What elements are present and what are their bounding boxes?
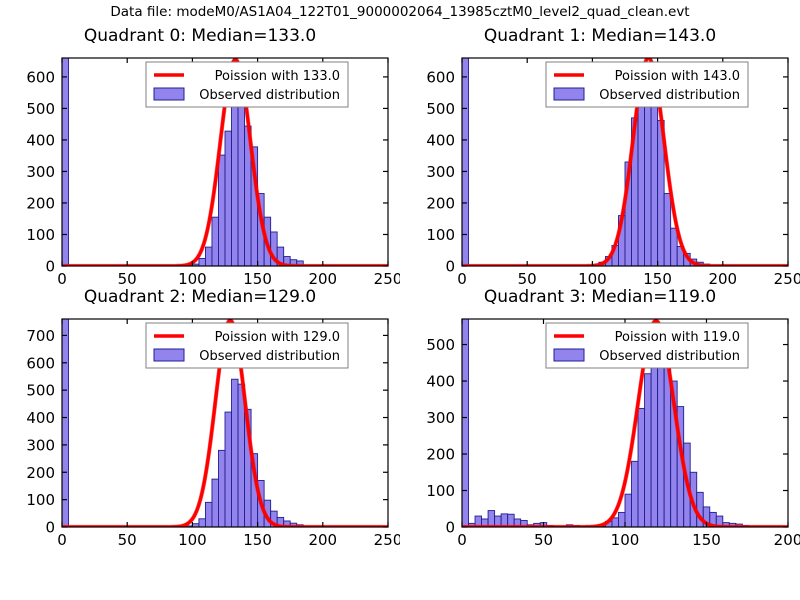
chart-quadrant-2: 0501001502002500100200300400500600700Poi… (0, 287, 400, 557)
legend[interactable]: Poission with 129.0Observed distribution (146, 323, 348, 368)
x-tick-label: 100 (578, 270, 607, 288)
legend-patch-swatch (554, 88, 584, 100)
x-tick-label: 150 (643, 270, 672, 288)
legend-label-observed: Observed distribution (599, 349, 740, 364)
panel-quadrant-3: Quadrant 3: Median=119.00501001502000100… (400, 287, 800, 557)
x-tick-label: 0 (457, 531, 467, 549)
legend[interactable]: Poission with 119.0Observed distribution (546, 323, 748, 368)
y-tick-label: 200 (426, 194, 455, 212)
y-tick-label: 500 (426, 336, 455, 354)
y-tick-label: 300 (426, 409, 455, 427)
legend-label-poisson: Poission with 143.0 (615, 69, 740, 84)
y-tick-label: 200 (426, 446, 455, 464)
x-tick-label: 0 (457, 270, 467, 288)
figure-title: Data file: modeM0/AS1A04_122T01_90000020… (0, 4, 800, 20)
legend[interactable]: Poission with 143.0Observed distribution (546, 62, 748, 107)
figure-canvas: Data file: modeM0/AS1A04_122T01_90000020… (0, 0, 800, 600)
y-tick-label: 100 (26, 491, 55, 509)
panel-quadrant-2: Quadrant 2: Median=129.00501001502002500… (0, 287, 400, 557)
y-tick-label: 500 (26, 100, 55, 118)
y-tick-label: 500 (26, 382, 55, 400)
legend-patch-swatch (554, 349, 584, 361)
y-tick-label: 600 (26, 354, 55, 372)
panel-quadrant-0: Quadrant 0: Median=133.00501001502002500… (0, 26, 400, 296)
chart-quadrant-0: 0501001502002500100200300400500600Poissi… (0, 26, 400, 296)
x-tick-label: 150 (243, 531, 272, 549)
x-tick-label: 150 (243, 270, 272, 288)
y-tick-label: 300 (26, 163, 55, 181)
y-tick-label: 200 (26, 464, 55, 482)
y-tick-label: 400 (426, 373, 455, 391)
y-tick-label: 0 (445, 519, 455, 537)
y-tick-label: 400 (426, 131, 455, 149)
x-tick-label: 150 (692, 531, 721, 549)
legend-label-observed: Observed distribution (599, 88, 740, 103)
y-tick-label: 600 (26, 68, 55, 86)
chart-quadrant-1: 0501001502002500100200300400500600Poissi… (400, 26, 800, 296)
y-tick-label: 700 (26, 327, 55, 345)
x-tick-label: 50 (518, 270, 537, 288)
panel-quadrant-1: Quadrant 1: Median=143.00501001502002500… (400, 26, 800, 296)
x-tick-label: 0 (57, 270, 67, 288)
x-tick-label: 250 (374, 270, 400, 288)
x-tick-label: 100 (178, 531, 207, 549)
x-tick-label: 200 (308, 270, 337, 288)
y-tick-label: 100 (426, 482, 455, 500)
x-tick-label: 100 (178, 270, 207, 288)
x-tick-label: 50 (118, 270, 137, 288)
y-tick-label: 500 (426, 100, 455, 118)
x-tick-label: 0 (57, 531, 67, 549)
y-tick-label: 200 (26, 194, 55, 212)
legend-label-observed: Observed distribution (199, 88, 340, 103)
legend-label-poisson: Poission with 129.0 (215, 330, 340, 345)
y-tick-label: 400 (26, 409, 55, 427)
chart-quadrant-3: 0501001502000100200300400500Poission wit… (400, 287, 800, 557)
y-tick-label: 0 (45, 519, 55, 537)
y-tick-label: 300 (426, 163, 455, 181)
x-tick-label: 200 (774, 531, 800, 549)
y-tick-label: 0 (445, 258, 455, 276)
legend-label-observed: Observed distribution (199, 349, 340, 364)
x-tick-label: 100 (611, 531, 640, 549)
y-tick-label: 600 (426, 68, 455, 86)
x-tick-label: 250 (374, 531, 400, 549)
y-tick-label: 400 (26, 131, 55, 149)
y-tick-label: 100 (26, 226, 55, 244)
y-tick-label: 300 (26, 436, 55, 454)
legend-patch-swatch (154, 349, 184, 361)
legend-label-poisson: Poission with 133.0 (215, 69, 340, 84)
y-tick-label: 0 (45, 258, 55, 276)
x-tick-label: 250 (774, 270, 800, 288)
legend[interactable]: Poission with 133.0Observed distribution (146, 62, 348, 107)
legend-patch-swatch (154, 88, 184, 100)
y-tick-label: 100 (426, 226, 455, 244)
x-tick-label: 50 (534, 531, 553, 549)
x-tick-label: 200 (308, 531, 337, 549)
x-tick-label: 200 (708, 270, 737, 288)
x-tick-label: 50 (118, 531, 137, 549)
legend-label-poisson: Poission with 119.0 (615, 330, 740, 345)
